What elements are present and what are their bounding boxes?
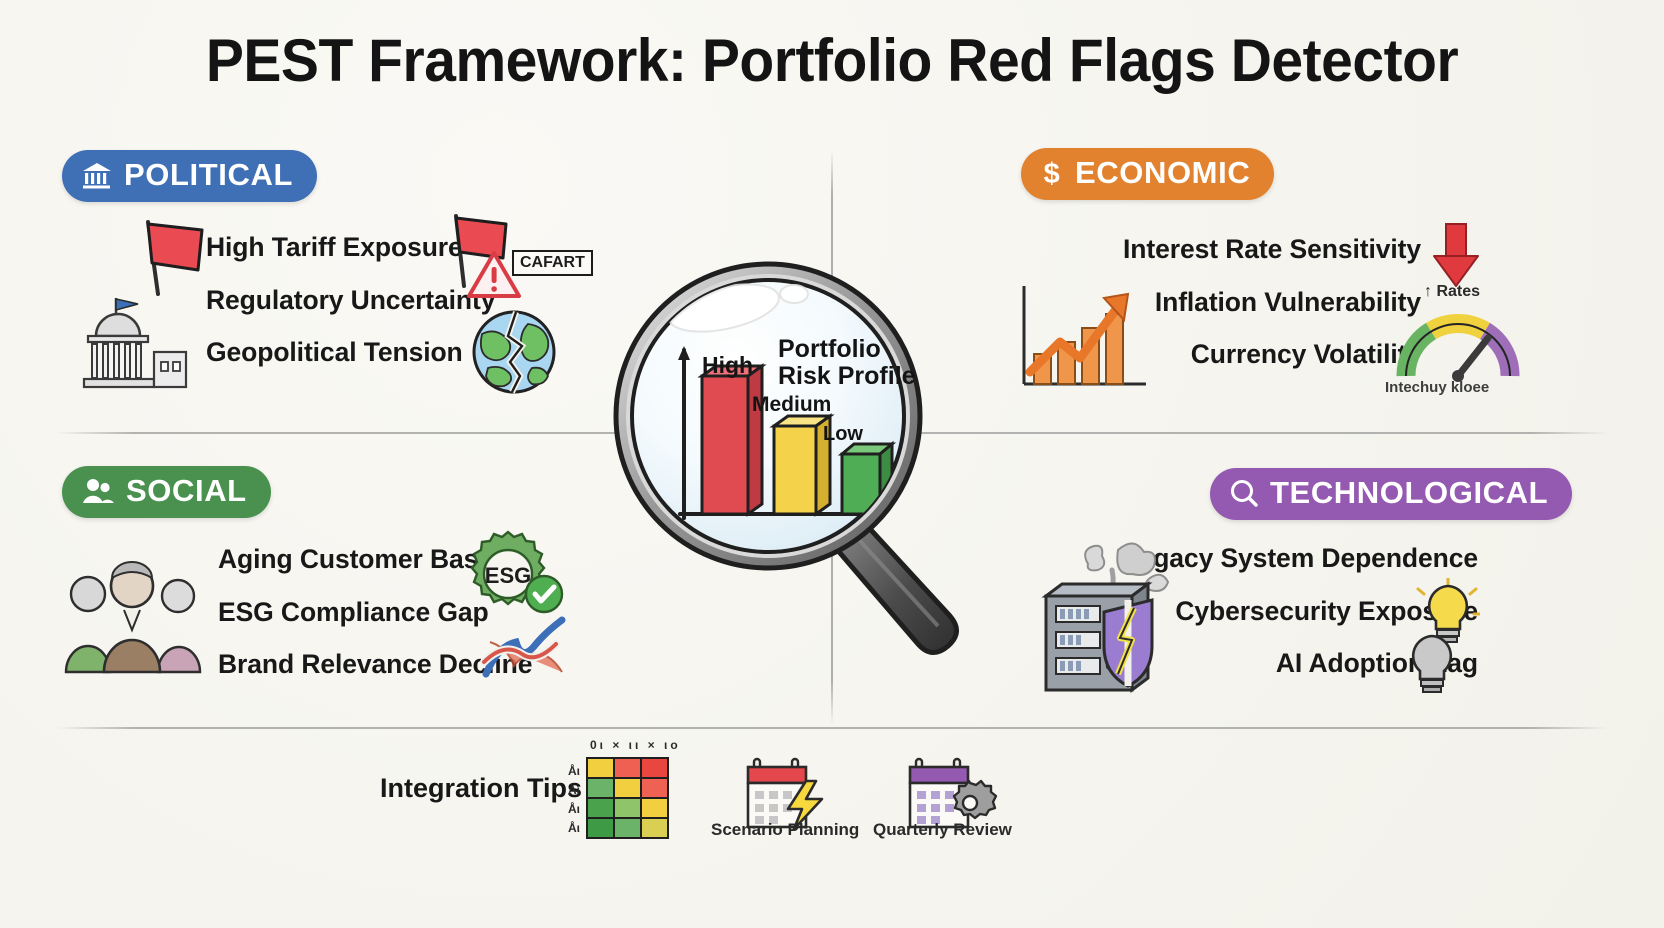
- magnifying-glass-icon: [598, 250, 1018, 670]
- cracked-shield-icon: [1104, 600, 1152, 686]
- bar-label-low: Low: [823, 423, 863, 446]
- people-group-icon: [82, 478, 114, 504]
- svg-text:$: $: [1044, 158, 1061, 188]
- esg-badge-text: ESG: [485, 563, 531, 588]
- horizontal-divider-bottom: [56, 727, 1608, 729]
- cracked-globe-icon: [466, 306, 562, 403]
- elderly-people-icon: [62, 556, 204, 679]
- list-item: Currency Volatility: [1123, 341, 1421, 368]
- integration-tips-label: Integration Tips: [380, 773, 582, 804]
- heatmap-top-axis-label: 0ι × ιι × ιο: [590, 738, 681, 752]
- rising-bar-chart-icon: [1012, 280, 1152, 403]
- dollar-sign-icon: $: [1041, 158, 1063, 188]
- list-item: Geopolitical Tension: [206, 339, 495, 366]
- infographic-canvas: PEST Framework: Portfolio Red Flags Dete…: [0, 0, 1664, 928]
- government-building-icon: [70, 296, 190, 407]
- bar-label-medium: Medium: [752, 393, 831, 417]
- risk-heatmap-icon: [586, 757, 670, 846]
- badge-social-label: SOCIAL: [126, 473, 247, 509]
- page-title: PEST Framework: Portfolio Red Flags Dete…: [42, 26, 1623, 95]
- quarterly-review-label: Quarterly Review: [873, 820, 1012, 840]
- gauge-caption-label: Intechuy kloee: [1385, 379, 1489, 396]
- rates-note-label: ↑ Rates: [1424, 283, 1480, 301]
- lightbulb-off-icon: [1400, 630, 1470, 713]
- bar-label-high: High: [702, 352, 753, 379]
- heatmap-row-labels: Åι Åι Åι Åι: [568, 762, 580, 838]
- bank-building-icon: [82, 161, 112, 189]
- red-flag-icon: [136, 216, 208, 301]
- list-item: Interest Rate Sensitivity: [1123, 236, 1421, 263]
- magnifier-icon: [1230, 479, 1258, 507]
- list-item: Inflation Vulnerability: [1123, 289, 1421, 316]
- chart-title: Portfolio Risk Profile: [778, 336, 916, 390]
- badge-economic-label: ECONOMIC: [1075, 155, 1250, 191]
- badge-technological-label: TECHNOLOGICAL: [1270, 475, 1548, 511]
- check-circle-icon: [526, 576, 562, 612]
- warning-sign-label: CAFART: [512, 250, 593, 276]
- economic-items: Interest Rate Sensitivity Inflation Vuln…: [1123, 236, 1421, 394]
- scenario-planning-label: Scenario Planning: [711, 820, 859, 840]
- badge-economic[interactable]: $ ECONOMIC: [1021, 148, 1274, 200]
- declining-brand-icon: [476, 608, 572, 695]
- badge-political-label: POLITICAL: [124, 157, 293, 193]
- badge-political[interactable]: POLITICAL: [62, 150, 317, 202]
- badge-technological[interactable]: TECHNOLOGICAL: [1210, 468, 1572, 520]
- gauge-meter-icon: [1396, 312, 1520, 389]
- badge-social[interactable]: SOCIAL: [62, 466, 271, 518]
- server-rack-icon: [1022, 534, 1182, 699]
